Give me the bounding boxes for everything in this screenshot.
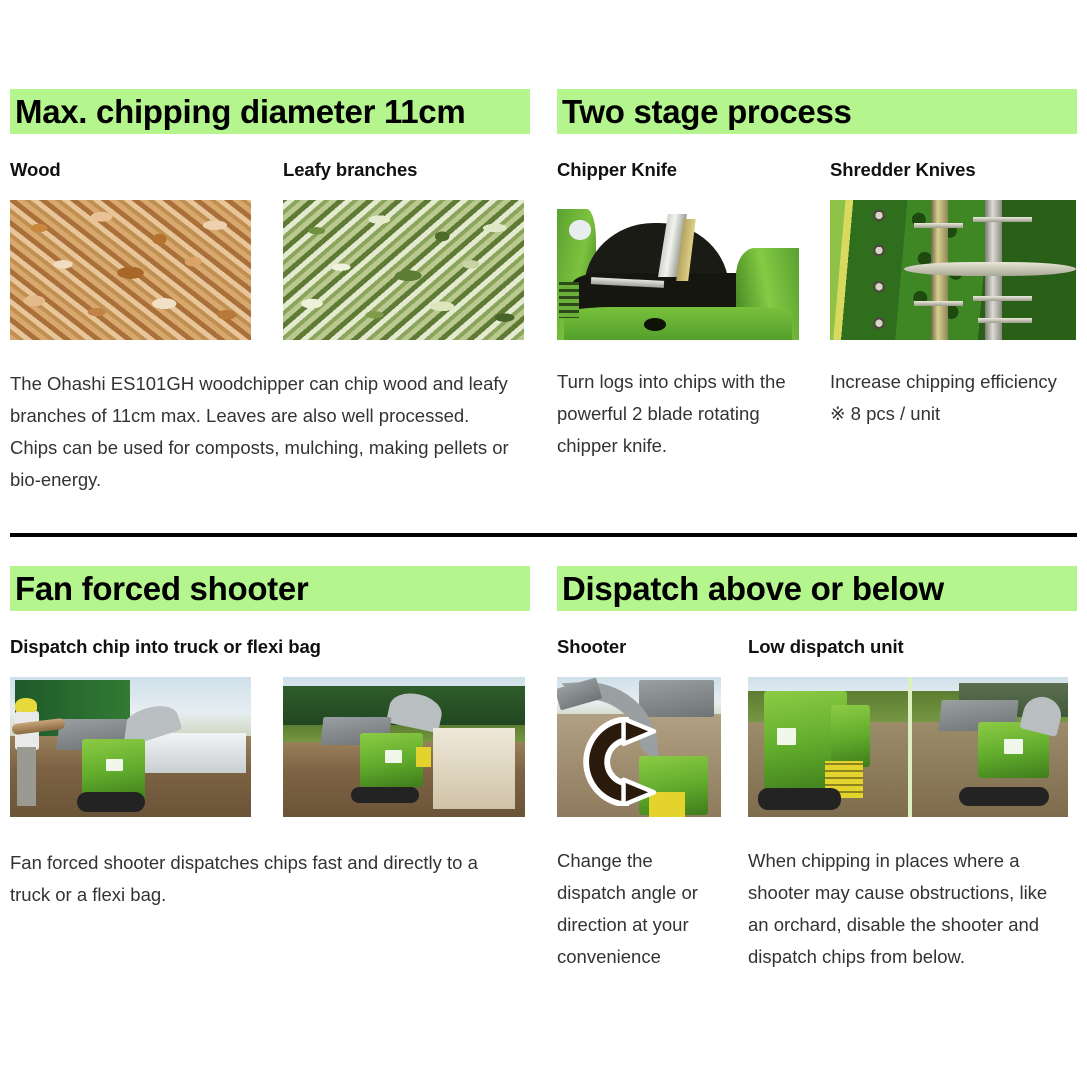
subcolumn-wood: Wood [10,160,251,340]
subcolumn-title: Leafy branches [283,160,524,180]
chipper-grille-shape [559,282,578,318]
subcolumn-shooter: Shooter [557,637,721,973]
flexi-bag-shape [433,728,515,809]
subcolumn-title: Shredder Knives [830,160,1076,180]
subcolumn-leafy-branches: Leafy branches [283,160,524,340]
chipper-chute-left-shape [831,705,869,767]
chipper-track-right-shape [959,787,1049,807]
chipper-track-shape [77,792,144,812]
section-fan-forced-shooter: Fan forced shooter Dispatch chip into tr… [10,566,530,911]
shredder-knife-shape [973,296,1032,301]
section-banner: Max. chipping diameter 11cm [10,89,530,134]
shredder-knife-shape [914,223,963,228]
subcolumn-shredder-knives: Shredder Knives Increase chipping effici… [830,160,1076,462]
subcolumn-body-text: Change the dispatch angle or direction a… [557,845,717,973]
section-body-text: The Ohashi ES101GH woodchipper can chip … [10,368,510,496]
subcolumn-title: Chipper Knife [557,160,799,180]
operator-helmet-shape [15,698,37,712]
section-banner: Two stage process [557,89,1077,134]
subcolumn-title: Shooter [557,637,721,657]
subcolumn-chipper-knife: Chipper Knife Turn logs into chips with … [557,160,799,462]
subcolumn-body-text: Increase chipping efficiency ※ 8 pcs / u… [830,366,1074,430]
section-banner: Fan forced shooter [10,566,530,611]
section-dispatch-above-or-below: Dispatch above or below Shooter [557,566,1077,973]
shredder-bolts-shape [864,200,894,340]
shooter-photo [557,677,721,817]
image-split-divider [908,677,912,817]
brand-logo-mark [385,750,402,763]
operator-legs-shape [17,747,36,806]
chipper-hole-shape [644,318,666,331]
dispatch-into-truck-photo [10,677,251,817]
banner-title: Max. chipping diameter 11cm [15,95,465,128]
section-banner: Dispatch above or below [557,566,1077,611]
subcolumn-group: Wood Leafy branches [10,160,530,340]
section-max-chipping-diameter: Max. chipping diameter 11cm Wood Leafy b… [10,89,530,496]
subcolumn-title: Low dispatch unit [748,637,1068,657]
shredder-knives-photo [830,200,1076,340]
shredder-knife-shape [973,217,1032,222]
subcolumn-group [10,677,530,817]
subcolumn-title: Wood [10,160,251,180]
brand-logo-mark [1004,739,1023,754]
section-two-stage-process: Two stage process Chipper Knife [557,89,1077,462]
subcolumn-body-text: Turn logs into chips with the powerful 2… [557,366,787,462]
chipper-track-shape [351,787,419,804]
banner-title: Two stage process [562,95,852,128]
chipper-track-left-shape [758,788,841,810]
subcolumn-group: Chipper Knife Turn logs into chips with … [557,160,1077,462]
section-divider [10,533,1077,537]
banner-title: Dispatch above or below [562,572,944,605]
brand-logo-mark [106,759,123,772]
chipper-knife-photo [557,200,799,340]
section-body-text: Fan forced shooter dispatches chips fast… [10,847,520,911]
dispatch-into-flexi-bag-photo [283,677,525,817]
leafy-branches-photo [283,200,524,340]
subcolumn-title: Dispatch chip into truck or flexi bag [10,637,530,657]
low-dispatch-unit-photo [748,677,1068,817]
banner-title: Fan forced shooter [15,572,308,605]
rotation-arrow-icon [583,717,675,807]
chipper-roller-shape [569,220,591,240]
chipper-base-shape [564,307,791,341]
shredder-knife-shape [978,318,1032,323]
brand-logo-mark [777,728,796,745]
feature-sheet-page: Max. chipping diameter 11cm Wood Leafy b… [0,0,1087,1067]
subcolumn-group: Shooter [557,637,1077,973]
subcolumn-body-text: When chipping in places where a shooter … [748,845,1070,973]
subcolumn-low-dispatch-unit: Low dispatch unit [748,637,1068,973]
shredder-knife-shape [914,301,963,306]
machine-behind-shape [639,680,714,716]
shredder-band-shape [904,262,1076,276]
chipper-yellow-panel-shape [416,747,431,767]
wood-chips-photo [10,200,251,340]
